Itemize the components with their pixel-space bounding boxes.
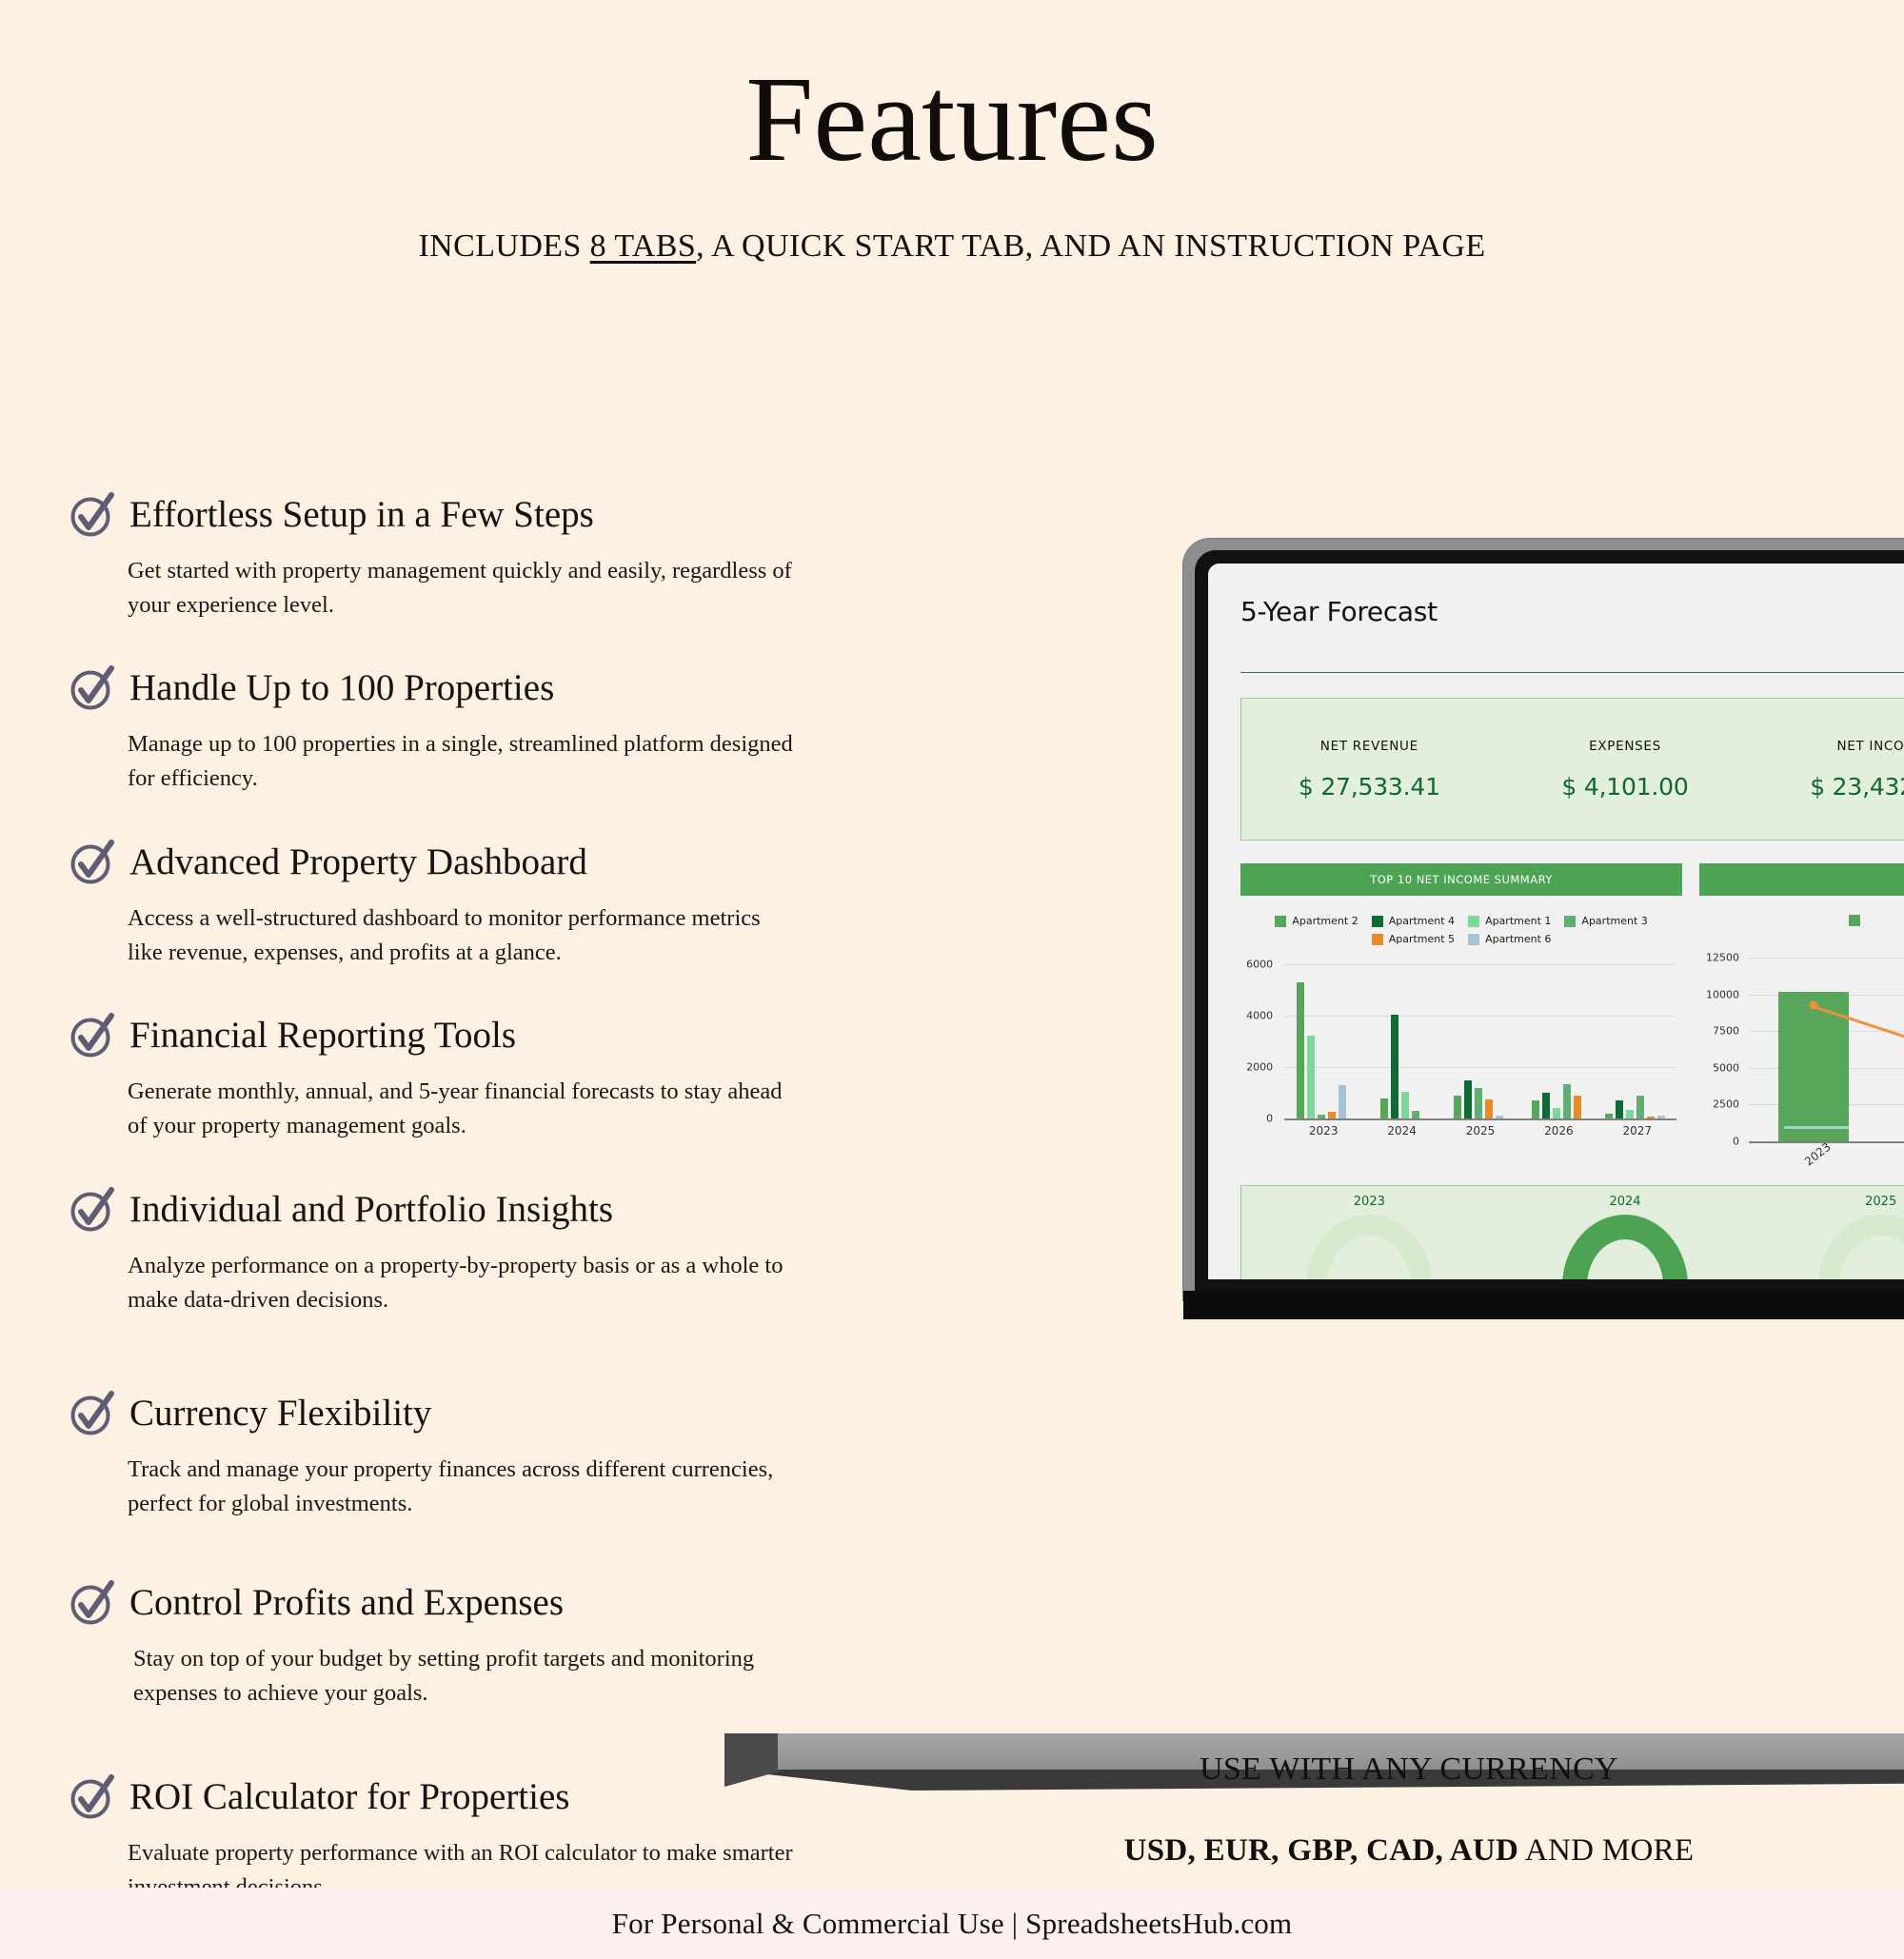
feature-title: Control Profits and Expenses xyxy=(129,1583,564,1624)
feature-title: Currency Flexibility xyxy=(129,1394,431,1435)
bar xyxy=(1307,1036,1315,1118)
bar xyxy=(1485,1099,1493,1118)
feature-item: Individual and Portfolio Insights Analyz… xyxy=(69,1186,954,1317)
y-axis-tick-label: 4000 xyxy=(1246,1010,1273,1022)
subtitle-suffix: , A QUICK START TAB, AND AN INSTRUCTION … xyxy=(696,228,1485,264)
legend-item: Apartment 5 xyxy=(1372,933,1455,945)
check-circle-icon xyxy=(69,1579,116,1627)
check-circle-icon xyxy=(69,1012,116,1059)
donut-ring-wrap: -31.53% xyxy=(1306,1215,1432,1280)
currency-codes-line: USD, EUR, GBP, CAD, AUD AND MORE xyxy=(914,1833,1904,1869)
feature-title: Advanced Property Dashboard xyxy=(129,842,587,883)
chart-legend: Apartment 2Apartment 4Apartment 1Apartme… xyxy=(1240,896,1682,945)
feature-item: Financial Reporting Tools Generate month… xyxy=(69,1012,954,1143)
feature-item: ROI Calculator for Properties Evaluate p… xyxy=(69,1773,954,1905)
spreadsheet-header: 5-Year Forecast xyxy=(1208,564,1904,655)
feature-item: Effortless Setup in a Few Steps Get star… xyxy=(69,491,954,623)
y-axis-tick-label: 2000 xyxy=(1246,1061,1273,1074)
donut-gauge: 2025 -84.84% xyxy=(1753,1200,1904,1280)
legend-swatch-icon xyxy=(1372,916,1383,927)
feature-title: Individual and Portfolio Insights xyxy=(129,1190,613,1231)
combo-chart-plot: 0250050007500100001250020232024 xyxy=(1699,938,1904,1174)
legend-label: Apartment 3 xyxy=(1581,915,1647,927)
x-axis-line xyxy=(1284,1118,1676,1120)
feature-description: Get started with property management qui… xyxy=(128,554,794,623)
footer-text: For Personal & Commercial Use | Spreadsh… xyxy=(612,1907,1293,1941)
bar xyxy=(1626,1110,1634,1118)
bar xyxy=(1464,1080,1472,1118)
x-axis-tick-label: 2025 xyxy=(1466,1124,1496,1138)
feature-item: Currency Flexibility Track and manage yo… xyxy=(69,1390,954,1521)
donut-year-label: 2025 xyxy=(1753,1195,1904,1209)
feature-title: Effortless Setup in a Few Steps xyxy=(129,495,594,536)
legend-item: Apartment 6 xyxy=(1468,933,1551,945)
legend-label: Apartment 2 xyxy=(1292,915,1358,927)
feature-item: Control Profits and Expenses Stay on top… xyxy=(69,1579,954,1711)
kpi-value: $ 4,101.00 xyxy=(1497,773,1754,801)
legend-item: Apartment 3 xyxy=(1564,915,1647,927)
donut-gauge: 2023 -31.53% xyxy=(1241,1200,1497,1280)
currency-suffix: AND MORE xyxy=(1518,1833,1694,1868)
kpi-expenses: EXPENSES $ 4,101.00 xyxy=(1497,739,1754,801)
bar xyxy=(1454,1096,1461,1118)
kpi-net-income: NET INCOME $ 23,432.41 xyxy=(1753,739,1904,801)
bar xyxy=(1412,1111,1419,1118)
kpi-label: EXPENSES xyxy=(1497,739,1754,754)
bar xyxy=(1657,1116,1665,1118)
feature-header: Currency Flexibility xyxy=(69,1390,954,1437)
feature-description: Track and manage your property finances … xyxy=(128,1453,794,1521)
bar xyxy=(1574,1096,1581,1118)
legend-label: Apartment 1 xyxy=(1485,915,1551,927)
feature-item: Advanced Property Dashboard Access a wel… xyxy=(69,839,954,970)
page-title: Features xyxy=(0,55,1904,183)
donut-year-label: 2024 xyxy=(1497,1195,1754,1209)
donut-ring xyxy=(1306,1215,1432,1280)
y-axis-tick-label: 6000 xyxy=(1246,959,1273,971)
check-circle-icon xyxy=(69,839,116,886)
feature-header: Effortless Setup in a Few Steps xyxy=(69,491,954,539)
forecast-trend-chart: 0250050007500100001250020232024 xyxy=(1699,863,1904,1166)
x-axis-tick-label: 2024 xyxy=(1387,1124,1417,1138)
bar xyxy=(1318,1115,1325,1118)
donut-ring xyxy=(1818,1215,1904,1280)
bar xyxy=(1391,1015,1398,1118)
chart-banner-title: TOP 10 NET INCOME SUMMARY xyxy=(1240,863,1682,896)
y-axis-tick-label: 2500 xyxy=(1713,1098,1739,1111)
charts-row: TOP 10 NET INCOME SUMMARY Apartment 2Apa… xyxy=(1240,863,1904,1166)
donut-year-label: 2023 xyxy=(1241,1195,1497,1209)
donut-value: -84.84% xyxy=(1818,1279,1904,1280)
legend-swatch-icon xyxy=(1564,916,1576,927)
bar xyxy=(1475,1088,1482,1118)
gridline xyxy=(1284,1016,1676,1017)
feature-description: Manage up to 100 properties in a single,… xyxy=(128,727,794,796)
feature-title: ROI Calculator for Properties xyxy=(129,1777,569,1818)
laptop-base-left-cap xyxy=(724,1733,778,1787)
feature-list: Effortless Setup in a Few Steps Get star… xyxy=(69,491,954,1905)
top-net-income-chart: TOP 10 NET INCOME SUMMARY Apartment 2Apa… xyxy=(1240,863,1682,1166)
feature-description: Access a well-structured dashboard to mo… xyxy=(128,901,794,970)
feature-header: Handle Up to 100 Properties xyxy=(69,664,954,712)
legend-label: Apartment 6 xyxy=(1485,933,1551,945)
bar xyxy=(1563,1084,1571,1118)
laptop-mockup: 5-Year Forecast NET REVENUE $ 27,533.41 … xyxy=(1183,539,1904,1319)
spreadsheet-title: 5-Year Forecast xyxy=(1240,596,1904,627)
feature-description: Analyze performance on a property-by-pro… xyxy=(128,1249,794,1317)
legend-swatch-icon xyxy=(1468,916,1479,927)
bar-chart-plot: 020004000600020232024202520262027 xyxy=(1240,957,1682,1143)
legend-swatch-icon xyxy=(1372,934,1383,945)
currency-block: USE WITH ANY CURRENCY USD, EUR, GBP, CAD… xyxy=(914,1751,1904,1869)
bar xyxy=(1553,1108,1560,1118)
currency-codes: USD, EUR, GBP, CAD, AUD xyxy=(1124,1833,1519,1868)
donut-ring-wrap: 115.56% xyxy=(1562,1215,1688,1280)
donut-ring xyxy=(1562,1215,1688,1280)
bar xyxy=(1542,1093,1550,1118)
feature-header: Advanced Property Dashboard xyxy=(69,839,954,886)
kpi-label: NET REVENUE xyxy=(1241,739,1497,754)
bar xyxy=(1297,982,1304,1118)
laptop-hinge xyxy=(1183,1291,1904,1319)
y-axis-tick-label: 10000 xyxy=(1706,988,1739,1000)
bar xyxy=(1339,1085,1346,1118)
bar xyxy=(1328,1112,1336,1118)
bar xyxy=(1532,1100,1539,1118)
check-circle-icon xyxy=(69,1773,116,1821)
chart-banner-title-right xyxy=(1699,863,1904,896)
y-axis-tick-label: 7500 xyxy=(1713,1025,1739,1038)
page-subtitle: INCLUDES 8 TABS, A QUICK START TAB, AND … xyxy=(0,228,1904,265)
bar xyxy=(1636,1096,1644,1118)
bar xyxy=(1401,1092,1409,1118)
legend-swatch-icon xyxy=(1275,916,1286,927)
kpi-value: $ 27,533.41 xyxy=(1241,773,1497,801)
feature-description: Stay on top of your budget by setting pr… xyxy=(133,1642,800,1711)
subtitle-tabs-emphasis: 8 TABS xyxy=(590,228,696,264)
header-divider xyxy=(1240,672,1904,673)
donut-gauge: 2024 115.56% xyxy=(1497,1200,1754,1280)
annual-growth-donuts: 2023 -31.53% 2024 115.56% 2025 -84.84% xyxy=(1240,1185,1904,1279)
bar xyxy=(1496,1116,1503,1119)
subtitle-prefix: INCLUDES xyxy=(418,228,589,264)
bar xyxy=(1616,1100,1623,1118)
legend-label: Apartment 5 xyxy=(1389,933,1455,945)
feature-title: Financial Reporting Tools xyxy=(129,1016,516,1057)
feature-header: Individual and Portfolio Insights xyxy=(69,1186,954,1234)
feature-title: Handle Up to 100 Properties xyxy=(129,668,554,709)
footer-bar: For Personal & Commercial Use | Spreadsh… xyxy=(0,1888,1904,1959)
bar xyxy=(1380,1098,1388,1118)
x-axis-tick-label: 2023 xyxy=(1309,1124,1339,1138)
y-axis-tick-label: 0 xyxy=(1733,1136,1739,1148)
feature-header: Control Profits and Expenses xyxy=(69,1579,954,1627)
kpi-value: $ 23,432.41 xyxy=(1753,773,1904,801)
y-axis-tick-label: 5000 xyxy=(1713,1061,1739,1074)
check-circle-icon xyxy=(69,491,116,539)
donut-value: 115.56% xyxy=(1562,1279,1688,1280)
legend-item: Apartment 2 xyxy=(1275,915,1358,927)
gridline xyxy=(1284,964,1676,965)
chart-legend-right xyxy=(1699,896,1904,926)
gridline xyxy=(1284,1067,1676,1068)
baseline-marker xyxy=(1784,1126,1849,1129)
legend-item: Apartment 4 xyxy=(1372,915,1455,927)
bar xyxy=(1605,1114,1613,1118)
feature-item: Handle Up to 100 Properties Manage up to… xyxy=(69,664,954,796)
kpi-summary-row: NET REVENUE $ 27,533.41 EXPENSES $ 4,101… xyxy=(1240,698,1904,841)
y-axis-tick-label: 0 xyxy=(1266,1113,1273,1125)
donut-value: -31.53% xyxy=(1306,1279,1432,1280)
laptop-screen: 5-Year Forecast NET REVENUE $ 27,533.41 … xyxy=(1208,564,1904,1279)
trend-line-point xyxy=(1810,1000,1818,1009)
legend-swatch-icon xyxy=(1468,934,1479,945)
kpi-label: NET INCOME xyxy=(1753,739,1904,754)
x-axis-tick-label: 2023 xyxy=(1802,1140,1834,1169)
x-axis-tick-label: 2026 xyxy=(1544,1124,1574,1138)
x-axis-tick-label: 2027 xyxy=(1623,1124,1653,1138)
donut-ring-wrap: -84.84% xyxy=(1818,1215,1904,1280)
legend-item xyxy=(1849,915,1860,926)
legend-item: Apartment 1 xyxy=(1468,915,1551,927)
kpi-net-revenue: NET REVENUE $ 27,533.41 xyxy=(1241,739,1497,801)
feature-header: Financial Reporting Tools xyxy=(69,1012,954,1059)
legend-label: Apartment 4 xyxy=(1389,915,1455,927)
check-circle-icon xyxy=(69,1186,116,1234)
legend-swatch-icon xyxy=(1849,915,1860,926)
check-circle-icon xyxy=(69,1390,116,1437)
bar xyxy=(1647,1117,1655,1118)
currency-headline: USE WITH ANY CURRENCY xyxy=(914,1751,1904,1788)
y-axis-tick-label: 12500 xyxy=(1706,952,1739,964)
gridline xyxy=(1749,958,1904,959)
check-circle-icon xyxy=(69,664,116,712)
feature-description: Generate monthly, annual, and 5-year fin… xyxy=(128,1075,794,1143)
